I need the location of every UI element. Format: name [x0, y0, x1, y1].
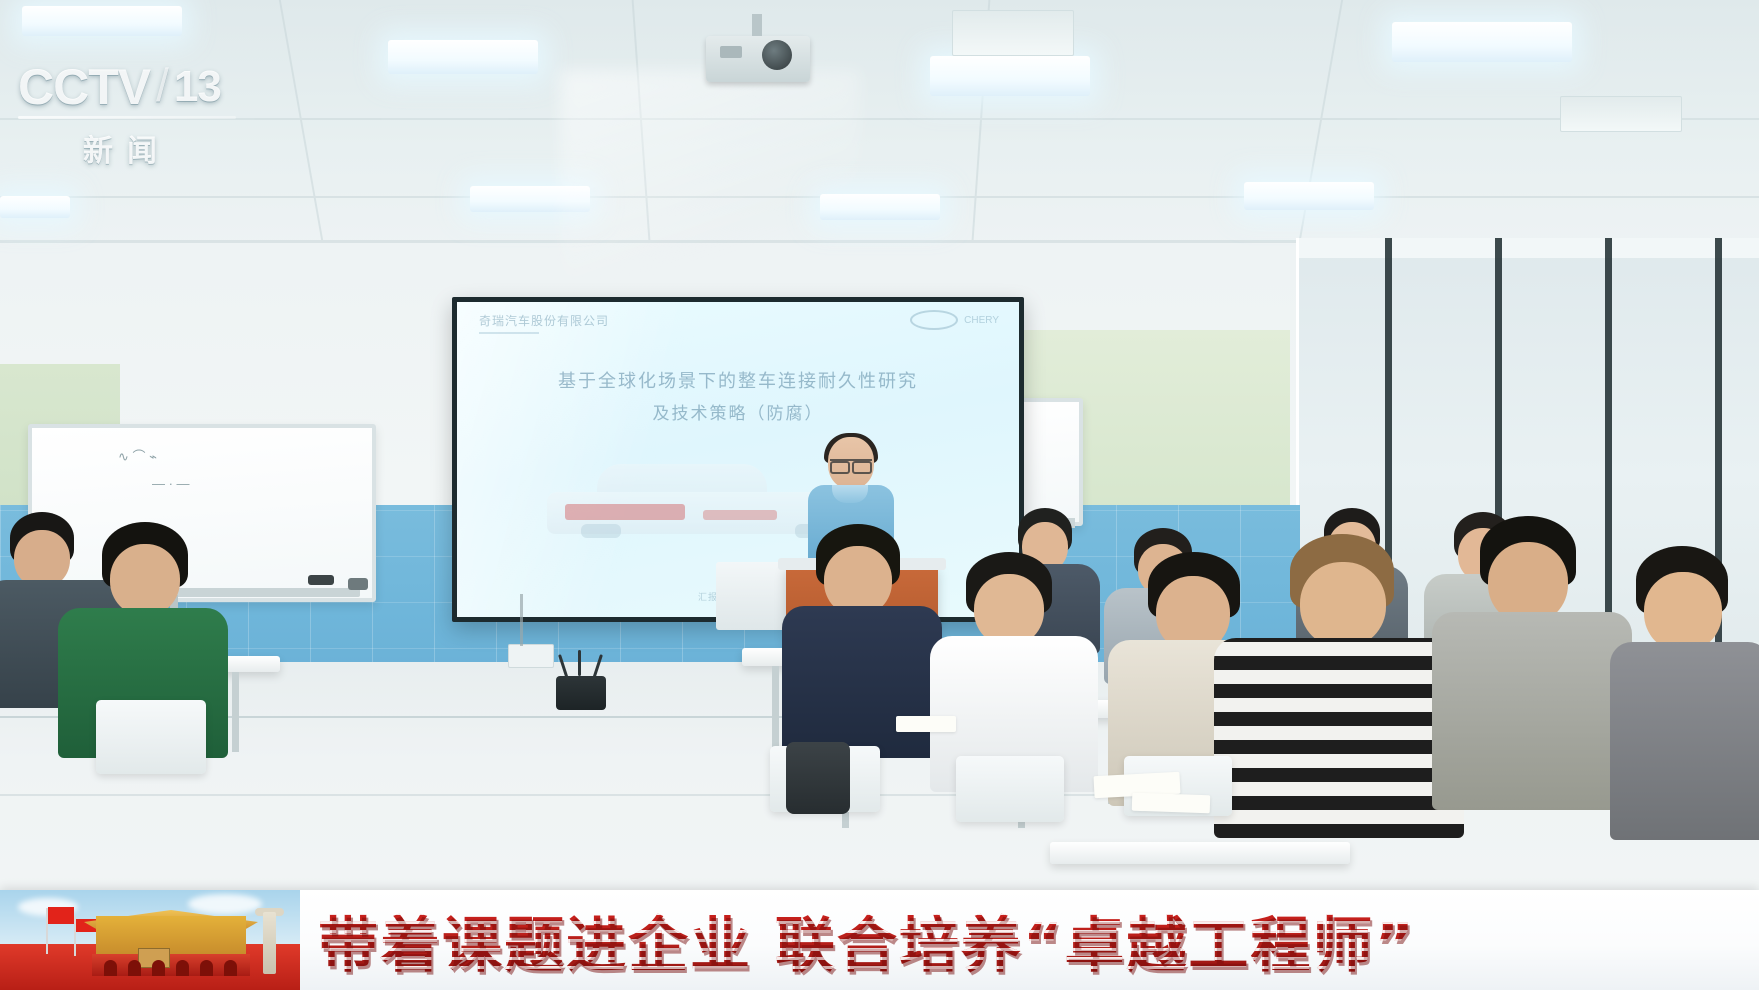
badge-arch — [200, 960, 213, 976]
ceiling-light — [388, 40, 538, 74]
ceiling-light — [820, 194, 940, 220]
badge-huabiao-pillar — [263, 912, 276, 974]
power-cable — [520, 594, 523, 646]
car-wheel — [581, 524, 621, 538]
ceiling-light — [930, 56, 1090, 96]
slide-divider — [479, 332, 539, 334]
wireless-router — [556, 676, 606, 710]
backpack — [786, 742, 850, 814]
whiteboard-eraser — [348, 578, 368, 590]
slide-brand-logo: CHERY — [910, 310, 999, 330]
audience-torso — [1432, 612, 1632, 810]
ceiling-light — [1244, 182, 1374, 210]
badge-arch — [128, 960, 141, 976]
ceiling-light — [1392, 22, 1572, 62]
ceiling-light — [0, 196, 70, 218]
chair — [956, 756, 1064, 822]
ceiling-vent — [1560, 96, 1682, 132]
ceiling-light — [470, 186, 590, 212]
channel-name-cn: 新闻 — [18, 126, 236, 170]
car-accent — [565, 504, 685, 520]
channel-logo-separator: / — [156, 62, 168, 108]
audience-member — [930, 552, 1098, 786]
car-accent — [703, 510, 777, 520]
badge-arch — [176, 960, 189, 976]
audience-torso — [1214, 638, 1464, 838]
tiananmen-badge-icon — [0, 890, 300, 990]
headline-text: 带着课题进企业 联合培养“卓越工程师” — [300, 890, 1759, 990]
audience-member — [1610, 546, 1759, 836]
window-header — [1299, 238, 1759, 258]
slide-title-line1: 基于全球化场景下的整车连接耐久性研究 — [558, 371, 918, 391]
ceiling-light — [22, 6, 182, 36]
channel-logo: CCTV / 13 新闻 — [18, 62, 258, 182]
desk-leg — [232, 672, 239, 752]
channel-number: 13 — [174, 65, 221, 109]
audience-member — [1214, 534, 1464, 834]
audience-member — [1432, 516, 1632, 806]
slide-title-line2: 及技术策略（防腐） — [457, 398, 1019, 430]
broadcast-frame: ∿ ⌒ ⌁ — · — 奇瑞汽车股份有限公司 CHERY 基于全球化场景下的整车… — [0, 0, 1759, 990]
channel-logo-underline — [18, 116, 236, 119]
ceiling-projector — [706, 36, 810, 82]
audience-torso — [782, 606, 942, 758]
audience-torso — [1610, 642, 1759, 840]
channel-logo-main: CCTV / 13 — [18, 62, 258, 112]
projector-knob — [720, 46, 742, 58]
router-antenna — [578, 650, 581, 676]
wall-outlet — [508, 644, 554, 668]
projector-lens — [762, 40, 792, 70]
presenter-glasses — [830, 459, 872, 470]
badge-arch — [152, 960, 165, 976]
badge-flag — [48, 907, 74, 924]
scene-photo: ∿ ⌒ ⌁ — · — 奇瑞汽车股份有限公司 CHERY 基于全球化场景下的整车… — [0, 0, 1759, 990]
ceiling-vent — [952, 10, 1074, 56]
handout-paper — [896, 716, 956, 732]
badge-cloud — [188, 894, 262, 914]
chery-logo-icon — [910, 310, 958, 330]
headline-label: 带着课题进企业 联合培养“卓越工程师” — [318, 897, 1416, 984]
chair — [96, 700, 206, 774]
desk-leg — [772, 666, 779, 752]
slide-company-header: 奇瑞汽车股份有限公司 — [479, 312, 609, 329]
audience-head — [1300, 562, 1386, 648]
handout-paper — [1132, 793, 1211, 814]
desk — [1050, 842, 1350, 864]
slide-title: 基于全球化场景下的整车连接耐久性研究 及技术策略（防腐） — [457, 364, 1019, 430]
channel-network-label: CCTV — [18, 62, 150, 112]
lower-third-banner: 带着课题进企业 联合培养“卓越工程师” — [0, 890, 1759, 990]
badge-arch — [104, 960, 117, 976]
audience-head — [1644, 572, 1722, 652]
audience-head — [110, 544, 180, 616]
slide-logo-text: CHERY — [964, 315, 999, 326]
badge-arch — [224, 960, 237, 976]
whiteboard-marker — [308, 575, 334, 585]
